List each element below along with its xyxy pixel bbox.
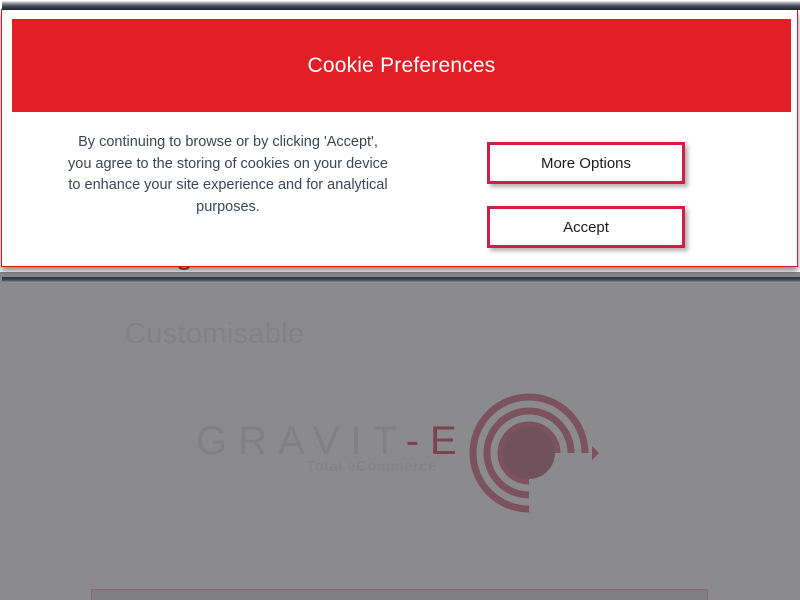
cookie-consent-message: By continuing to browse or by clicking '… (68, 132, 388, 218)
more-options-button[interactable]: More Options (487, 142, 685, 184)
accept-button[interactable]: Accept (487, 206, 685, 248)
dialog-header: Cookie Preferences (12, 19, 791, 112)
dialog-body: By continuing to browse or by clicking '… (12, 120, 791, 266)
cookie-preferences-dialog: Cookie Preferences By continuing to brow… (1, 9, 798, 267)
dialog-top-shadow-bar (2, 1, 800, 10)
dialog-bottom-shadow-bar (2, 277, 800, 283)
page-root: Integrations Customisable GRAVIT-E Total… (0, 0, 800, 600)
dialog-title: Cookie Preferences (12, 19, 791, 112)
modal-dim-overlay[interactable] (0, 272, 800, 600)
